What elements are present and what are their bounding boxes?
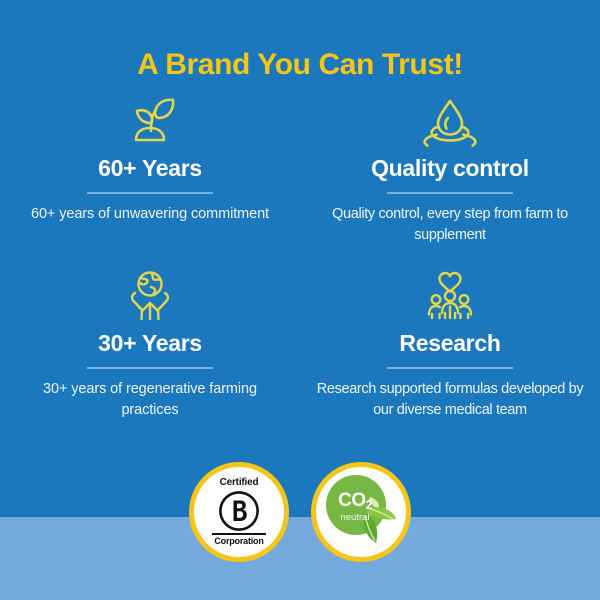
sprout-icon — [14, 92, 286, 150]
co2-neutral-badge: CO2 neutral — [311, 462, 411, 562]
card-divider — [87, 367, 213, 369]
page-title: A Brand You Can Trust! — [0, 48, 600, 82]
feature-card-title: 60+ Years — [14, 156, 286, 181]
feature-card-description: Research supported formulas developed by… — [314, 379, 586, 420]
card-divider — [387, 367, 513, 369]
infographic-root: A Brand You Can Trust! 60+ Years 60+ yea… — [0, 0, 600, 600]
bcorp-corporation-label: Corporation — [212, 537, 266, 546]
certified-b-corporation-badge: Certified Corporation — [189, 462, 289, 562]
bcorp-certified-label: Certified — [212, 478, 266, 488]
hands-holding-globe-icon — [14, 267, 286, 325]
bcorp-rule — [212, 533, 266, 535]
feature-card-quality-control: Quality control Quality control, every s… — [300, 92, 600, 267]
feature-card-research: Research Research supported formulas dev… — [300, 267, 600, 420]
feature-card-title: Quality control — [314, 156, 586, 181]
people-heart-icon — [314, 267, 586, 325]
feature-card-description: Quality control, every step from farm to… — [314, 204, 586, 245]
water-drop-icon — [314, 92, 586, 150]
feature-card-years-30: 30+ Years 30+ years of regenerative farm… — [0, 267, 300, 420]
feature-card-description: 30+ years of regenerative farming practi… — [14, 379, 286, 420]
certification-badges: Certified Corporation — [0, 462, 600, 562]
feature-grid: 60+ Years 60+ years of unwavering commit… — [0, 92, 600, 420]
feature-card-description: 60+ years of unwavering commitment — [14, 204, 286, 225]
bcorp-content: Certified Corporation — [212, 478, 266, 546]
card-divider — [87, 192, 213, 194]
co2-content: CO2 neutral — [318, 469, 404, 555]
bcorp-b-mark-icon — [218, 490, 260, 532]
card-divider — [387, 192, 513, 194]
feature-card-years-60: 60+ Years 60+ years of unwavering commit… — [0, 92, 300, 267]
feature-card-title: Research — [314, 331, 586, 356]
feature-card-title: 30+ Years — [14, 331, 286, 356]
co2-leaf-graphic-icon — [318, 469, 404, 555]
